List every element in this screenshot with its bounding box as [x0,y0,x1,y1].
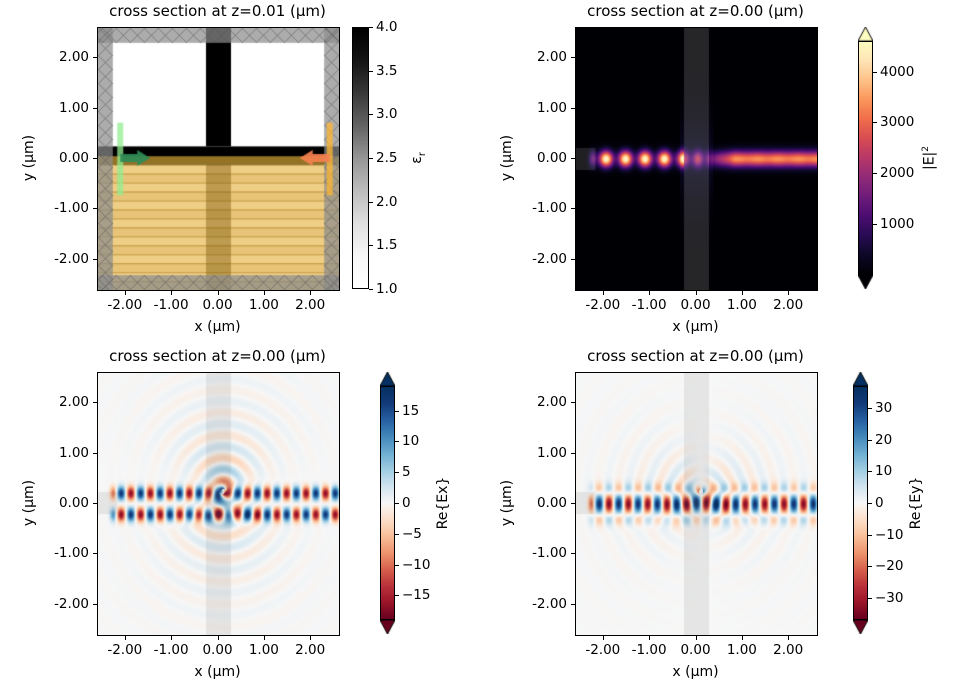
panel-permittivity-xtick-label: -2.00 [107,297,142,313]
panel-re-ey-colorbar-tick [868,535,872,536]
panel-re-ey-ytick-label: -2.00 [489,596,567,612]
panel-intensity-colorbar-label: |E|2 [921,146,938,170]
panel-re-ey-ytick-label: 2.00 [489,394,567,410]
panel-re-ex-colorbar-gradient [380,386,395,620]
panel-re-ey-colorbar-tick-label: −10 [875,527,904,543]
panel-re-ex-colorbar-tick-label: −5 [402,526,422,542]
panel-intensity-xtick-label: 2.00 [773,297,803,313]
panel-re-ex-colorbar-label: Re{Ex} [435,477,451,530]
panel-permittivity-colorbar-label: εr [409,152,428,163]
panel-re-ey-plot-area[interactable] [575,372,818,636]
panel-intensity-colorbar-extend-min [858,275,873,289]
panel-permittivity-ytick [93,57,97,58]
panel-intensity-ytick-label: 2.00 [489,49,567,65]
panel-permittivity-ytick [93,108,97,109]
panel-intensity-colorbar-extend-max [858,27,873,41]
panel-re-ey-xtick-label: 1.00 [727,642,757,658]
panel-re-ey-colorbar-tick [868,471,872,472]
panel-re-ex-colorbar-tick [395,411,399,412]
panel-permittivity-colorbar-tick-label: 2.0 [376,194,397,210]
panel-re-ey-colorbar-tick [868,598,872,599]
panel-intensity-ytick [571,158,575,159]
panel-re-ex-colorbar-tick [395,595,399,596]
panel-re-ex-colorbar-tick-label: −15 [402,587,431,603]
panel-re-ex-xtick-label: 0.00 [202,642,232,658]
panel-re-ex-title: cross section at z=0.00 (µm) [2,347,433,365]
panel-intensity-xtick [788,291,789,295]
panel-permittivity-colorbar-tick [369,114,373,115]
panel-permittivity-colorbar-tick-label: 2.5 [376,150,397,166]
panel-permittivity-xtick-label: 2.00 [295,297,325,313]
panel-permittivity-xtick [264,291,265,295]
panel-intensity-colorbar-tick [873,72,877,73]
panel-re-ey-xtick [696,636,697,640]
panel-re-ex: cross section at z=0.00 (µm)-2.00-1.000.… [0,345,477,690]
panel-re-ex-ylabel: y (µm) [21,480,37,526]
panel-re-ex-ytick [93,453,97,454]
panel-re-ey-colorbar-tick [868,408,872,409]
panel-re-ey-ytick-label: -1.00 [489,545,567,561]
panel-re-ey-ytick [571,604,575,605]
panel-re-ex-xtick-label: -2.00 [107,642,142,658]
panel-permittivity-colorbar-tick-label: 4.0 [376,19,397,35]
panel-permittivity-colorbar-tick [369,202,373,203]
panel-re-ey-colorbar-tick [868,503,872,504]
panel-intensity-colorbar-tick-label: 3000 [880,114,914,130]
panel-re-ex-colorbar-tick-label: 15 [402,403,419,419]
panel-intensity-colorbar-tick-label: 4000 [880,64,914,80]
panel-re-ex-ytick [93,604,97,605]
panel-intensity-xtick [696,291,697,295]
panel-re-ex-xtick [264,636,265,640]
panel-re-ey-colorbar-extend-max [853,372,868,386]
panel-re-ey-colorbar-tick-label: −20 [875,558,904,574]
figure-canvas: cross section at z=0.01 (µm)-2.00-1.000.… [0,0,955,690]
panel-re-ex-ytick-label: -2.00 [11,596,89,612]
panel-re-ey-xtick-label: 2.00 [773,642,803,658]
panel-intensity-xtick-label: -1.00 [632,297,667,313]
panel-re-ey-xtick [742,636,743,640]
panel-permittivity-xlabel: x (µm) [194,319,240,335]
panel-intensity-field-image [576,28,817,290]
panel-intensity: cross section at z=0.00 (µm)-2.00-1.000.… [478,0,955,345]
panel-re-ey-xtick-label: -2.00 [585,642,620,658]
panel-permittivity-colorbar-gradient [352,27,369,289]
panel-permittivity-colorbar-tick [369,27,373,28]
panel-re-ex-colorbar-extend-max [380,372,395,386]
panel-re-ey-colorbar [853,372,868,634]
panel-permittivity-xtick [310,291,311,295]
panel-re-ex-xlabel: x (µm) [194,664,240,680]
panel-re-ey-colorbar-tick [868,440,872,441]
panel-re-ey-ytick [571,503,575,504]
panel-re-ey-ytick [571,553,575,554]
panel-re-ex-colorbar-tick-label: 0 [402,495,411,511]
panel-intensity-ytick-label: -1.00 [489,200,567,216]
panel-permittivity-colorbar-tick [369,245,373,246]
panel-re-ex-colorbar-tick [395,472,399,473]
panel-re-ey-ytick [571,453,575,454]
panel-intensity-xtick [742,291,743,295]
panel-permittivity: cross section at z=0.01 (µm)-2.00-1.000.… [0,0,477,345]
panel-re-ey-xtick [788,636,789,640]
panel-permittivity-xtick [125,291,126,295]
panel-re-ey-ylabel: y (µm) [499,480,515,526]
panel-re-ey-colorbar-tick-label: −30 [875,590,904,606]
panel-re-ey-xtick-label: -1.00 [632,642,667,658]
panel-re-ex-xtick [218,636,219,640]
panel-re-ex-ytick [93,503,97,504]
panel-re-ex-colorbar-tick [395,503,399,504]
panel-re-ey-ytick-label: 1.00 [489,445,567,461]
panel-re-ex-colorbar-tick [395,441,399,442]
panel-re-ey-colorbar-tick [868,566,872,567]
panel-re-ey-colorbar-tick-label: 30 [875,400,892,416]
panel-re-ey-title: cross section at z=0.00 (µm) [480,347,911,365]
panel-intensity-xtick [649,291,650,295]
panel-re-ex-plot-area[interactable] [97,372,340,636]
panel-re-ex-colorbar-extend-min [380,620,395,634]
panel-re-ex-xtick [171,636,172,640]
panel-intensity-plot-area[interactable] [575,27,818,291]
panel-intensity-ytick [571,259,575,260]
panel-re-ey-colorbar-extend-min [853,620,868,634]
panel-permittivity-colorbar [352,27,369,289]
panel-intensity-colorbar-tick [873,173,877,174]
panel-permittivity-ytick [93,158,97,159]
panel-re-ey-colorbar-tick-label: 20 [875,432,892,448]
panel-permittivity-plot-area[interactable] [97,27,340,291]
panel-permittivity-colorbar-tick [369,289,373,290]
panel-permittivity-field-image [98,28,339,290]
panel-intensity-ytick [571,57,575,58]
panel-re-ex-colorbar-tick-label: 5 [402,464,411,480]
panel-permittivity-xtick-label: 0.00 [202,297,232,313]
panel-intensity-xtick-label: -2.00 [585,297,620,313]
panel-intensity-ytick [571,208,575,209]
panel-re-ey-colorbar-label: Re{Ey} [908,477,924,530]
panel-re-ey-xtick [649,636,650,640]
panel-re-ey-xtick [603,636,604,640]
panel-re-ey-colorbar-tick-label: 0 [875,495,884,511]
panel-permittivity-xtick-label: -1.00 [154,297,189,313]
panel-re-ex-ytick [93,402,97,403]
panel-permittivity-colorbar-tick [369,158,373,159]
panel-permittivity-ytick-label: -1.00 [11,200,89,216]
panel-re-ey-ytick [571,402,575,403]
panel-re-ex-field-image [98,373,339,635]
panel-permittivity-xtick [218,291,219,295]
panel-re-ex-ytick-label: -1.00 [11,545,89,561]
panel-re-ex-colorbar-tick-label: −10 [402,557,431,573]
panel-re-ey-xlabel: x (µm) [672,664,718,680]
panel-intensity-ytick-label: 1.00 [489,100,567,116]
panel-permittivity-ytick-label: -2.00 [11,251,89,267]
panel-permittivity-colorbar-tick-label: 3.0 [376,106,397,122]
panel-intensity-xtick-label: 1.00 [727,297,757,313]
panel-re-ex-ytick [93,553,97,554]
panel-permittivity-ylabel: y (µm) [21,135,37,181]
panel-re-ex-xtick-label: 1.00 [249,642,279,658]
panel-intensity-colorbar [858,27,873,289]
panel-re-ey-colorbar-tick-label: 10 [875,463,892,479]
panel-intensity-title: cross section at z=0.00 (µm) [480,2,911,20]
panel-intensity-colorbar-tick-label: 1000 [880,216,914,232]
panel-re-ex-xtick [125,636,126,640]
panel-intensity-colorbar-tick [873,224,877,225]
panel-permittivity-ytick [93,208,97,209]
panel-permittivity-ytick-label: 1.00 [11,100,89,116]
panel-intensity-ytick [571,108,575,109]
panel-re-ey-colorbar-gradient [853,386,868,620]
panel-intensity-xtick-label: 0.00 [680,297,710,313]
panel-permittivity-ytick-label: 2.00 [11,49,89,65]
panel-re-ex-ytick-label: 2.00 [11,394,89,410]
panel-intensity-colorbar-gradient [858,41,873,275]
panel-intensity-xtick [603,291,604,295]
panel-permittivity-xtick-label: 1.00 [249,297,279,313]
panel-permittivity-xtick [171,291,172,295]
panel-re-ex-xtick [310,636,311,640]
panel-re-ex-ytick-label: 1.00 [11,445,89,461]
panel-re-ey-field-image [576,373,817,635]
panel-re-ex-xtick-label: -1.00 [154,642,189,658]
panel-re-ex-colorbar-tick-label: 10 [402,433,419,449]
panel-intensity-ylabel: y (µm) [499,135,515,181]
panel-permittivity-colorbar-tick [369,71,373,72]
panel-re-ex-xtick-label: 2.00 [295,642,325,658]
panel-permittivity-title: cross section at z=0.01 (µm) [2,2,433,20]
panel-permittivity-colorbar-tick-label: 3.5 [376,63,397,79]
panel-re-ey: cross section at z=0.00 (µm)-2.00-1.000.… [478,345,955,690]
panel-re-ex-colorbar-tick [395,565,399,566]
panel-intensity-colorbar-tick [873,122,877,123]
panel-permittivity-colorbar-tick-label: 1.5 [376,237,397,253]
panel-intensity-colorbar-tick-label: 2000 [880,165,914,181]
panel-permittivity-colorbar-tick-label: 1.0 [376,281,397,297]
panel-re-ey-xtick-label: 0.00 [680,642,710,658]
panel-re-ex-colorbar-tick [395,534,399,535]
panel-intensity-xlabel: x (µm) [672,319,718,335]
panel-permittivity-ytick [93,259,97,260]
panel-re-ex-colorbar [380,372,395,634]
panel-intensity-ytick-label: -2.00 [489,251,567,267]
